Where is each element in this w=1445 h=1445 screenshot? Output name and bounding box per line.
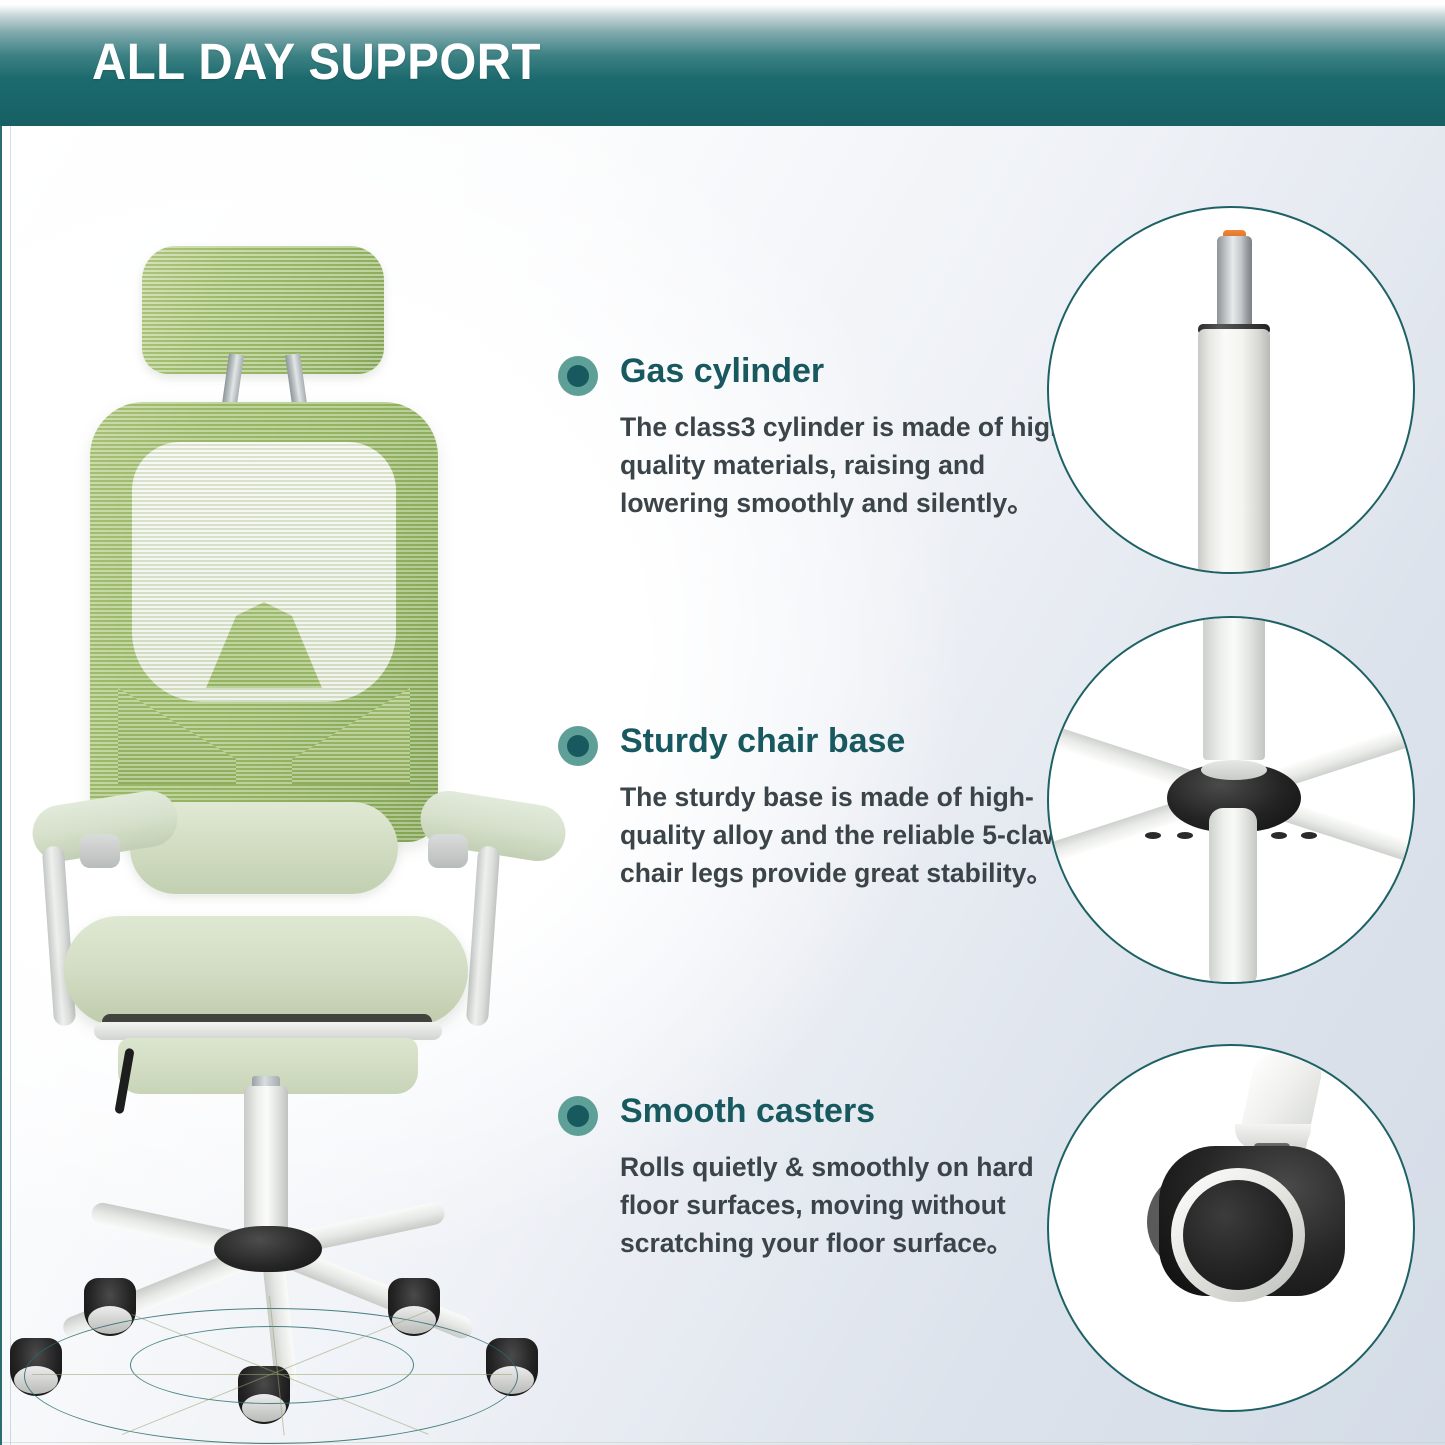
product-chair-illustration	[2, 186, 562, 1406]
detail-circle-caster	[1047, 1044, 1415, 1412]
armrest-post-right	[466, 845, 501, 1026]
product-infographic-page: ALL DAY SUPPORT	[0, 0, 1445, 1445]
header-band: ALL DAY SUPPORT	[0, 0, 1445, 126]
backrest-wing-left	[118, 688, 236, 784]
gas-cylinder-piston-rod	[1217, 236, 1252, 330]
base-closeup-foot-4	[1301, 832, 1317, 839]
detail-circle-gas-cylinder	[1047, 206, 1415, 574]
filled-circle-bullet-icon	[558, 1096, 598, 1136]
base-center-hub	[214, 1226, 322, 1272]
feature-item-sturdy-chair-base: Sturdy chair base The sturdy base is mad…	[558, 720, 1058, 892]
base-column-top	[1203, 616, 1265, 760]
chair-headrest	[142, 246, 384, 374]
feature-item-gas-cylinder: Gas cylinder The class3 cylinder is made…	[558, 350, 1058, 522]
floor-guide-ellipse-inner	[130, 1326, 414, 1404]
feature-description: Rolls quietly & smoothly on hard floor s…	[620, 1148, 1068, 1262]
detail-circle-chair-base	[1047, 616, 1415, 984]
chair-mesh-backrest	[90, 402, 438, 842]
armrest-joint-left	[80, 834, 120, 868]
base-column-bottom	[1209, 808, 1257, 984]
gas-cylinder-body	[1198, 329, 1270, 574]
filled-circle-bullet-icon	[558, 356, 598, 396]
feature-header: Sturdy chair base	[558, 720, 1058, 772]
feature-title: Sturdy chair base	[620, 720, 905, 762]
base-closeup-foot-1	[1145, 832, 1161, 839]
seat-cushion	[64, 916, 468, 1026]
feature-title: Gas cylinder	[620, 350, 824, 392]
feature-description: The sturdy base is made of high-quality …	[620, 778, 1068, 892]
filled-circle-bullet-icon	[558, 726, 598, 766]
base-closeup-foot-3	[1271, 832, 1287, 839]
feature-header: Smooth casters	[558, 1090, 1058, 1142]
gas-cylinder-column	[244, 1086, 288, 1236]
base-closeup-foot-2	[1177, 832, 1193, 839]
content-area: Gas cylinder The class3 cylinder is made…	[0, 126, 1445, 1445]
feature-title: Smooth casters	[620, 1090, 875, 1132]
feature-item-smooth-casters: Smooth casters Rolls quietly & smoothly …	[558, 1090, 1058, 1262]
armrest-joint-right	[428, 834, 468, 868]
backrest-wing-right	[292, 688, 410, 784]
feature-description: The class3 cylinder is made of high qual…	[620, 408, 1068, 522]
feature-header: Gas cylinder	[558, 350, 1058, 402]
base-closeup-hub-collar	[1201, 760, 1267, 780]
page-title: ALL DAY SUPPORT	[92, 36, 541, 87]
caster-closeup-wheel	[1183, 1180, 1293, 1290]
